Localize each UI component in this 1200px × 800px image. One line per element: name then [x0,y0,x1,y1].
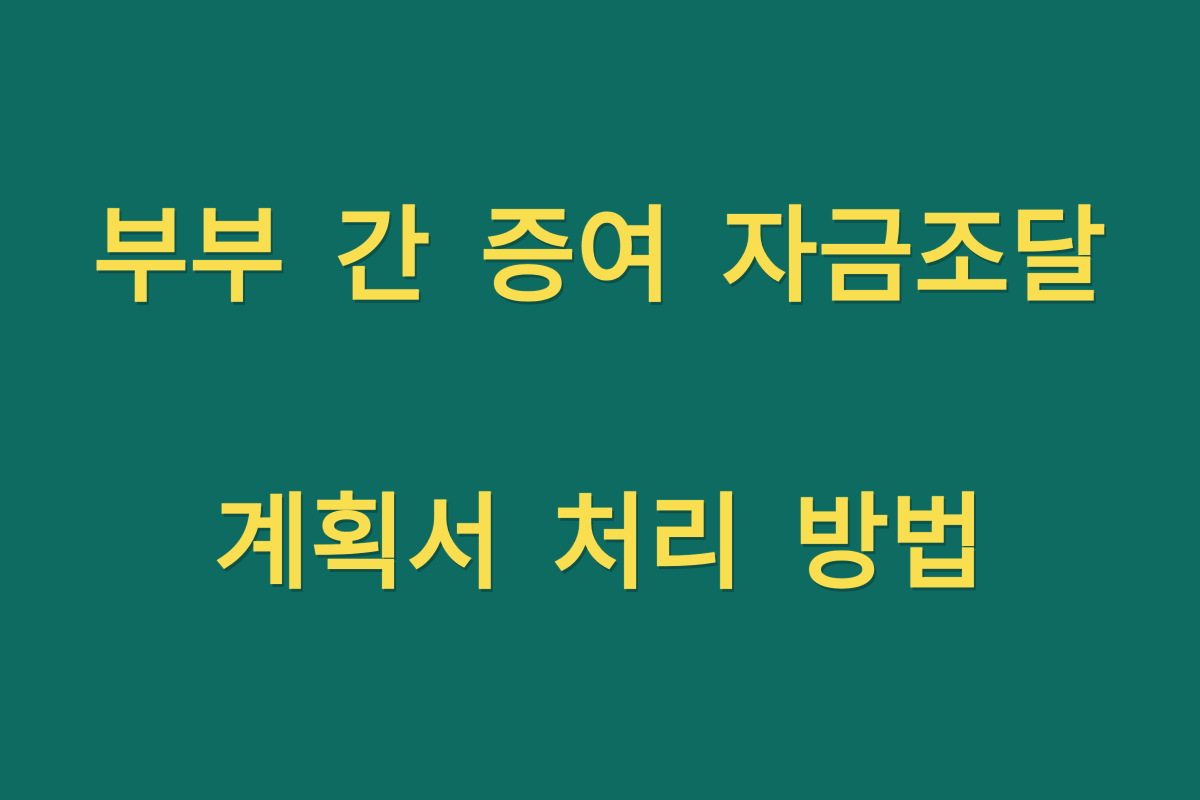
headline-line-1: 부부 간 증여 자금조달 [40,185,1160,329]
headline-line-2: 계획서 처리 방법 [40,472,1160,616]
headline-block: 부부 간 증여 자금조달 계획서 처리 방법 [0,41,1200,759]
title-card: 부부 간 증여 자금조달 계획서 처리 방법 [0,0,1200,800]
